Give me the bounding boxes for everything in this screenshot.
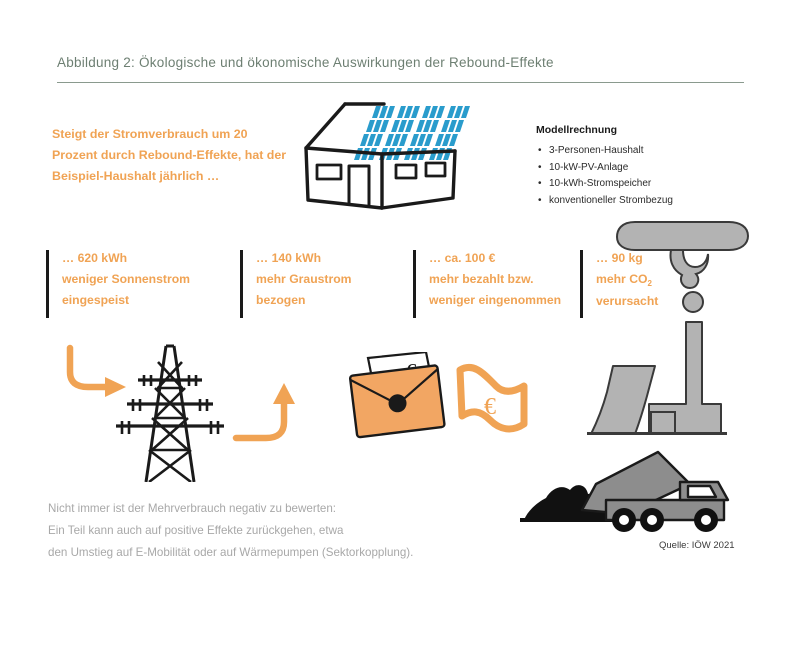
stat-line-2: mehr bezahlt bzw.	[429, 269, 561, 290]
stat-divider-bar	[240, 250, 243, 318]
model-calculation-list: •3-Personen-Haushalt •10-kW-PV-Anlage •1…	[536, 143, 766, 209]
stat-divider-bar	[46, 250, 49, 318]
power-plant-svg	[583, 218, 768, 458]
list-item-label: 10-kW-PV-Anlage	[549, 162, 628, 173]
model-calculation-box: Modellrechnung •3-Personen-Haushalt •10-…	[536, 124, 766, 209]
money-svg: € €	[348, 352, 533, 467]
cooling-tower-icon	[591, 366, 655, 434]
source-attribution: Quelle: IÖW 2021	[659, 540, 735, 551]
figure-title: Abbildung 2: Ökologische und ökonomische…	[57, 55, 554, 70]
footnote-text: Nicht immer ist der Mehrverbrauch negati…	[48, 498, 413, 564]
list-item: •10-kW-PV-Anlage	[536, 160, 766, 177]
svg-text:€: €	[484, 394, 496, 420]
list-item: •3-Personen-Haushalt	[536, 143, 766, 160]
model-calculation-title: Modellrechnung	[536, 124, 766, 136]
infographic-figure: Abbildung 2: Ökologische und ökonomische…	[0, 0, 800, 647]
stat-line-1: … 620 kWh	[62, 248, 190, 269]
plant-ground-line	[587, 432, 727, 435]
stat-line-3: eingespeist	[62, 290, 190, 311]
wallet-icon	[350, 365, 445, 437]
list-item: •10-kWh-Stromspeicher	[536, 176, 766, 193]
stat-text: … 620 kWh weniger Sonnenstrom eingespeis…	[62, 248, 190, 311]
stat-text: … 140 kWh mehr Graustrom bezogen	[256, 248, 352, 311]
truck-svg	[518, 448, 753, 538]
power-plant-illustration	[583, 218, 768, 458]
list-item-label: 3-Personen-Haushalt	[549, 145, 644, 156]
stat-line-2: weniger Sonnenstrom	[62, 269, 190, 290]
plant-connector-icon	[651, 412, 675, 434]
house-door-icon	[349, 166, 369, 207]
stat-line-1: … ca. 100 €	[429, 248, 561, 269]
arrow-out-icon	[236, 383, 295, 438]
arrow-in-icon	[70, 348, 126, 397]
bullet-icon: •	[538, 193, 542, 210]
smoke-puff-icon	[683, 292, 703, 312]
pylon-svg	[58, 342, 313, 482]
stat-text: … ca. 100 € mehr bezahlt bzw. weniger ei…	[429, 248, 561, 311]
stat-line-1: … 140 kWh	[256, 248, 352, 269]
bullet-icon: •	[538, 143, 542, 160]
banknote-icon: €	[460, 367, 524, 429]
electricity-pylon-illustration	[58, 342, 313, 482]
intro-text: Steigt der Stromverbrauch um 20 Prozent …	[52, 124, 287, 187]
pylon-icon	[116, 346, 224, 482]
bullet-icon: •	[538, 176, 542, 193]
smoke-cloud-icon	[617, 222, 748, 288]
house-with-solar-panels-illustration	[288, 96, 493, 216]
header-divider	[57, 82, 744, 83]
house-svg	[288, 96, 493, 216]
stat-line-3: weniger eingenommen	[429, 290, 561, 311]
list-item-label: konventioneller Strombezug	[549, 195, 673, 206]
list-item-label: 10-kWh-Stromspeicher	[549, 178, 651, 189]
footnote-line-3: den Umstieg auf E-Mobilität oder auf Wär…	[48, 542, 413, 564]
footnote-line-2: Ein Teil kann auch auf positive Effekte …	[48, 520, 413, 542]
bullet-icon: •	[538, 160, 542, 177]
footnote-line-1: Nicht immer ist der Mehrverbrauch negati…	[48, 498, 413, 520]
stat-divider-bar	[413, 250, 416, 318]
stat-line-2: mehr Graustrom	[256, 269, 352, 290]
list-item: •konventioneller Strombezug	[536, 193, 766, 210]
wallet-and-banknote-illustration: € €	[348, 352, 533, 467]
stat-line-3: bezogen	[256, 290, 352, 311]
dump-truck-and-coal-illustration	[518, 448, 753, 538]
